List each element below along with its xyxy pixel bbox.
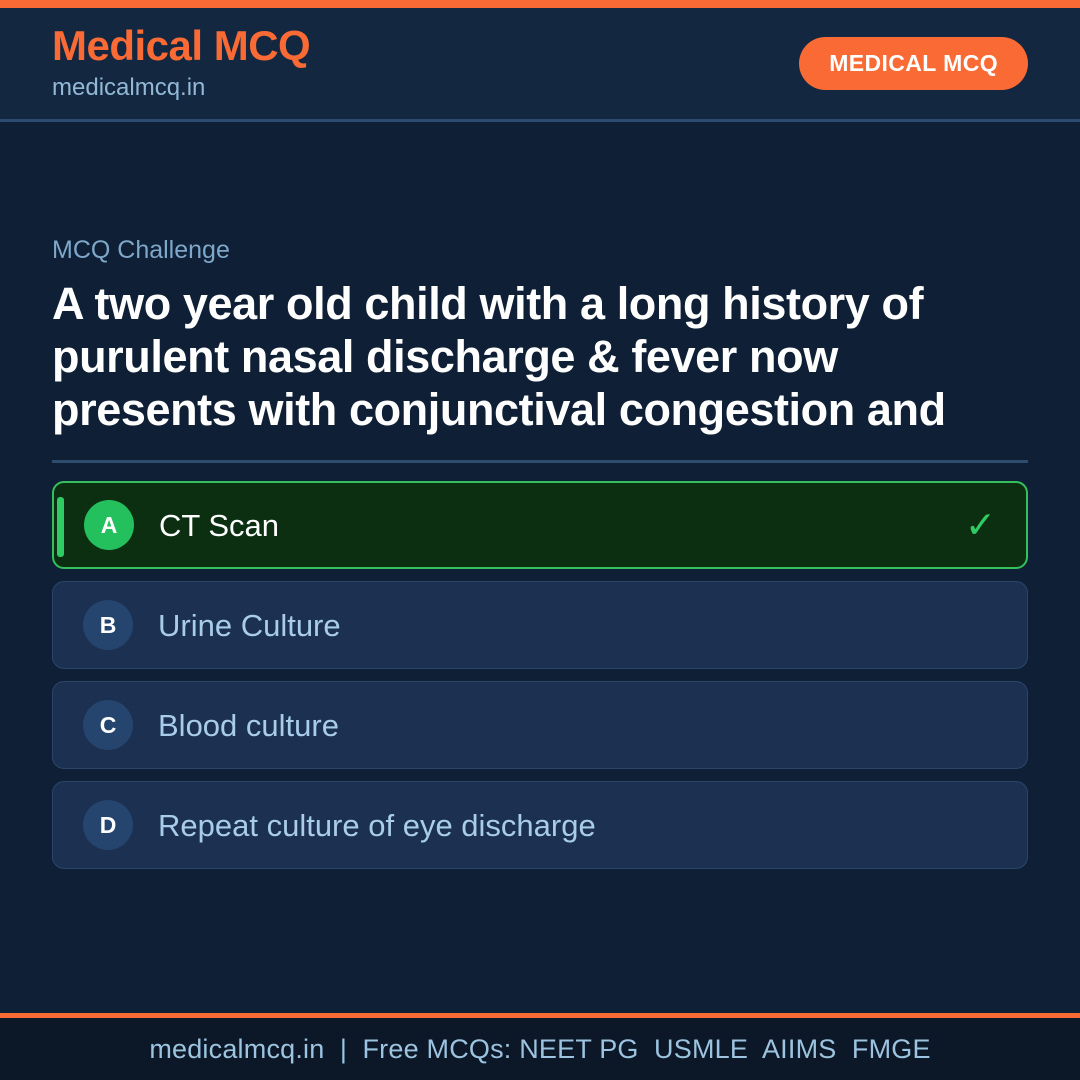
correct-accent-bar <box>57 497 64 557</box>
brand-url: medicalmcq.in <box>52 73 310 103</box>
header-badge: MEDICAL MCQ <box>799 37 1028 90</box>
footer-text: medicalmcq.in | Free MCQs: NEET PG USMLE… <box>149 1034 930 1065</box>
option-row-b[interactable]: B Urine Culture <box>52 581 1028 669</box>
option-row-d[interactable]: D Repeat culture of eye discharge <box>52 781 1028 869</box>
option-row-c[interactable]: C Blood culture <box>52 681 1028 769</box>
check-icon: ✓ <box>965 507 996 544</box>
question-divider <box>52 460 1028 463</box>
options-list: A CT Scan ✓ B Urine Culture C Blood cult… <box>52 481 1028 869</box>
option-letter-badge-d: D <box>83 800 133 850</box>
page-footer: medicalmcq.in | Free MCQs: NEET PG USMLE… <box>0 1013 1080 1080</box>
option-row-a[interactable]: A CT Scan ✓ <box>52 481 1028 569</box>
top-accent-bar <box>0 0 1080 8</box>
option-label-a: CT Scan <box>159 507 279 544</box>
option-letter-badge-c: C <box>83 700 133 750</box>
option-label-b: Urine Culture <box>158 607 341 644</box>
page-header: Medical MCQ medicalmcq.in MEDICAL MCQ <box>0 8 1080 122</box>
question-text: A two year old child with a long history… <box>52 277 1007 436</box>
brand-title: Medical MCQ <box>52 24 310 68</box>
option-letter-badge-a: A <box>84 500 134 550</box>
eyebrow-label: MCQ Challenge <box>52 235 1028 265</box>
brand-block: Medical MCQ medicalmcq.in <box>52 24 310 102</box>
option-label-d: Repeat culture of eye discharge <box>158 807 596 844</box>
main-content: MCQ Challenge A two year old child with … <box>0 125 1080 1013</box>
option-letter-badge-b: B <box>83 600 133 650</box>
option-label-c: Blood culture <box>158 707 339 744</box>
